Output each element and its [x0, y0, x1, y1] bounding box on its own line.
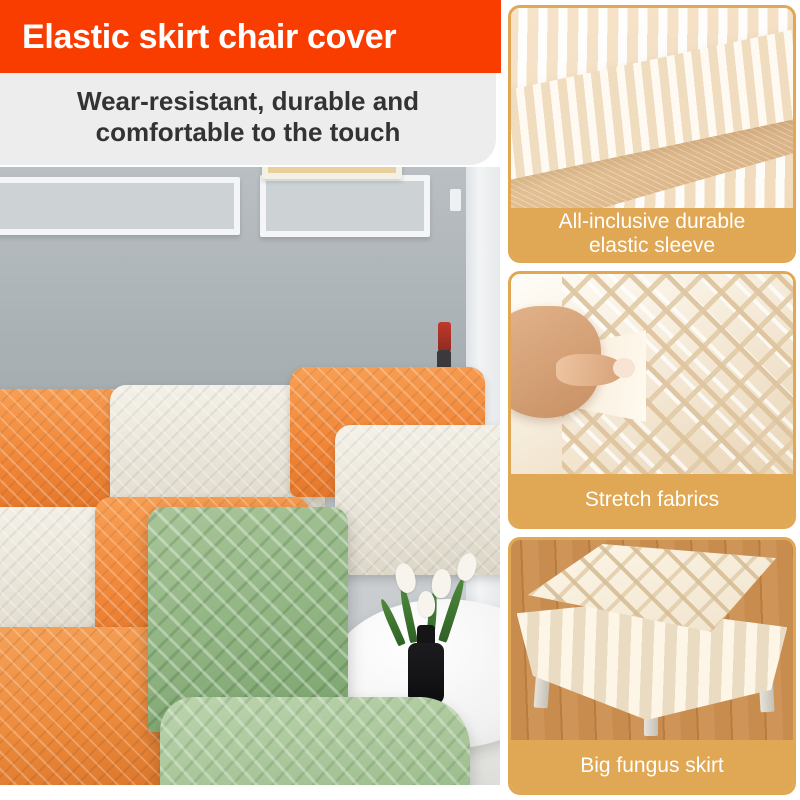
black-vase: [408, 643, 444, 705]
feature-photo-big-fungus-skirt: [511, 540, 793, 740]
caption-line-1: Stretch fabrics: [585, 488, 719, 511]
hero-scene: [0, 167, 500, 785]
product-poster: Elastic skirt chair cover Wear-resistant…: [0, 0, 800, 800]
header-banner: Elastic skirt chair cover: [0, 0, 501, 73]
subheader-banner: Wear-resistant, durable and comfortable …: [0, 73, 496, 165]
caption-line-1: All-inclusive durable: [559, 210, 746, 233]
red-decor-object: [438, 322, 451, 352]
feature-panel-elastic-sleeve: All-inclusive durable elastic sleeve: [508, 5, 796, 263]
caption-line-1: Big fungus skirt: [580, 754, 724, 777]
wall-panel-right: [260, 175, 430, 237]
wall-picture-frame: [262, 167, 402, 179]
elastic-sleeve-illustration: [511, 8, 793, 208]
feature-caption-elastic-sleeve: All-inclusive durable elastic sleeve: [511, 208, 793, 260]
feature-caption-stretch-fabrics: Stretch fabrics: [511, 474, 793, 526]
feature-panel-big-fungus-skirt: Big fungus skirt: [508, 537, 796, 795]
stretch-fabric-illustration: [511, 274, 793, 474]
skirt-cover-illustration: [511, 540, 793, 740]
caption-line-2: elastic sleeve: [589, 234, 715, 257]
wall-switch: [450, 189, 461, 211]
fingernail: [613, 358, 636, 378]
feature-caption-big-fungus-skirt: Big fungus skirt: [511, 740, 793, 792]
subtitle-line-1: Wear-resistant, durable and: [77, 86, 419, 117]
feature-photo-stretch-fabrics: [511, 274, 793, 474]
green-chair-seat-cover: [160, 697, 470, 785]
chair-cover-cream-back-2: [335, 425, 500, 575]
hero-product-photo: [0, 167, 500, 785]
subtitle-line-2: comfortable to the touch: [96, 117, 401, 148]
page-title: Elastic skirt chair cover: [0, 20, 396, 54]
feature-panel-stretch-fabrics: Stretch fabrics: [508, 271, 796, 529]
feature-photo-elastic-sleeve: [511, 8, 793, 208]
wall-panel-left: [0, 177, 240, 235]
